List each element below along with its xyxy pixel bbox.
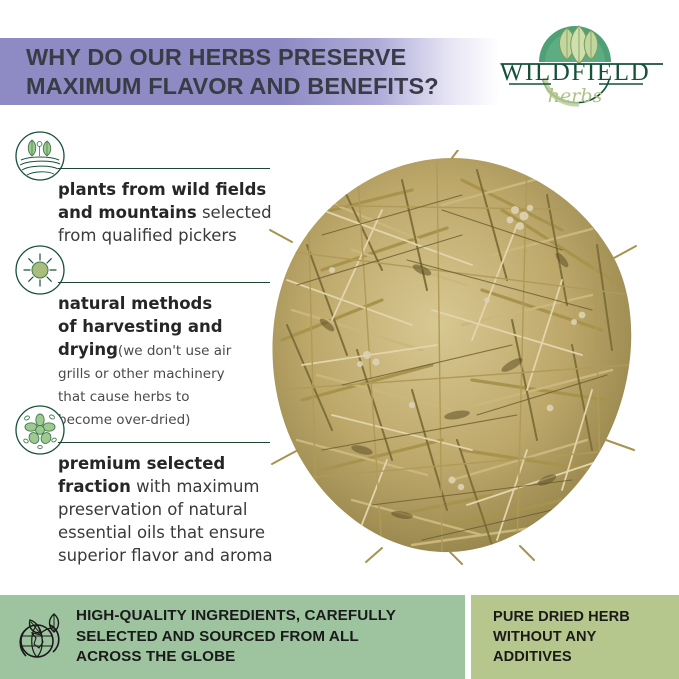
bottom-banner-global-sourcing: HIGH-QUALITY INGREDIENTS, CAREFULLY SELE…	[0, 595, 465, 679]
logo-subbrand-text: herbs	[548, 85, 603, 107]
bottom-banner-text-global: HIGH-QUALITY INGREDIENTS, CAREFULLY SELE…	[76, 606, 396, 668]
feature-item-natural-drying: natural methods of harvesting and drying…	[0, 242, 300, 294]
feature-item-wild-fields: plants from wild fields and mountains se…	[0, 128, 300, 180]
herb-sprig-icon	[14, 404, 66, 456]
dried-herb-pile-image	[262, 150, 642, 565]
bottom-banner-text-pure: PURE DRIED HERB WITHOUT ANY ADDITIVES	[493, 607, 630, 667]
page-title: WHY DO OUR HERBS PRESERVE MAXIMUM FLAVOR…	[26, 43, 476, 100]
brand-logo: WILDFIELD herbs	[487, 24, 663, 120]
feature-divider-rule	[58, 168, 270, 169]
bottom-banner-pure-herb: PURE DRIED HERB WITHOUT ANY ADDITIVES	[471, 595, 679, 679]
field-plants-icon	[14, 130, 66, 182]
feature-divider-rule	[58, 442, 270, 443]
feature-divider-rule	[58, 282, 270, 283]
feature-text-premium-fraction: premium selected fraction with maximum p…	[58, 452, 298, 567]
feature-item-premium-fraction: premium selected fraction with maximum p…	[0, 402, 300, 454]
header: WHY DO OUR HERBS PRESERVE MAXIMUM FLAVOR…	[0, 0, 679, 130]
sun-icon	[14, 244, 66, 296]
feature-text-wild-fields: plants from wild fields and mountains se…	[58, 178, 298, 247]
globe-leaf-icon	[12, 608, 68, 664]
logo-brand-text: WILDFIELD	[500, 59, 650, 86]
